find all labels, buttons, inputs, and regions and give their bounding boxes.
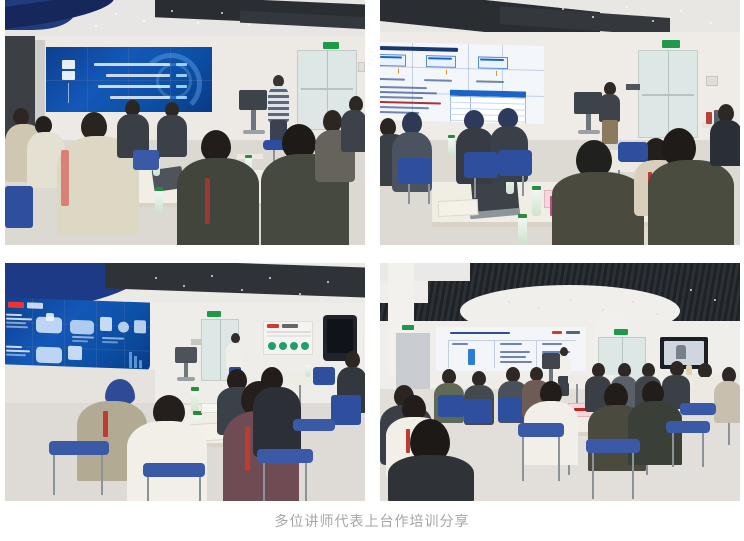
scene-top-right xyxy=(380,0,740,245)
presenter-body xyxy=(226,343,243,369)
exit-sign xyxy=(662,40,680,48)
scene-bottom-right xyxy=(380,263,740,501)
water-bottle xyxy=(191,391,199,413)
scene-top-left xyxy=(5,0,365,245)
collage-caption: 多位讲师代表上台作培训分享 xyxy=(0,512,744,532)
photo-top-left[interactable] xyxy=(5,0,365,245)
led-screen-bottom-left xyxy=(5,297,150,372)
exit-sign xyxy=(207,311,221,317)
photo-top-right[interactable] xyxy=(380,0,740,245)
photo-bottom-right[interactable] xyxy=(380,263,740,501)
scene-bottom-left xyxy=(5,263,365,501)
exit-sign xyxy=(323,42,339,49)
podium xyxy=(574,92,602,114)
photo-bottom-left[interactable] xyxy=(5,263,365,501)
exit-sign xyxy=(614,329,628,335)
podium xyxy=(175,347,197,363)
podium xyxy=(239,90,267,110)
presenter-head xyxy=(560,347,568,356)
chair xyxy=(518,423,564,437)
projection-screen-top-right xyxy=(380,42,544,124)
presenter-body xyxy=(268,86,289,122)
presenter-head xyxy=(231,333,240,343)
photo-collage-page: 多位讲师代表上台作培训分享 xyxy=(0,0,744,541)
podium xyxy=(542,353,560,369)
chair xyxy=(49,441,109,455)
photo-grid xyxy=(5,0,740,501)
presenter-body xyxy=(599,94,620,122)
